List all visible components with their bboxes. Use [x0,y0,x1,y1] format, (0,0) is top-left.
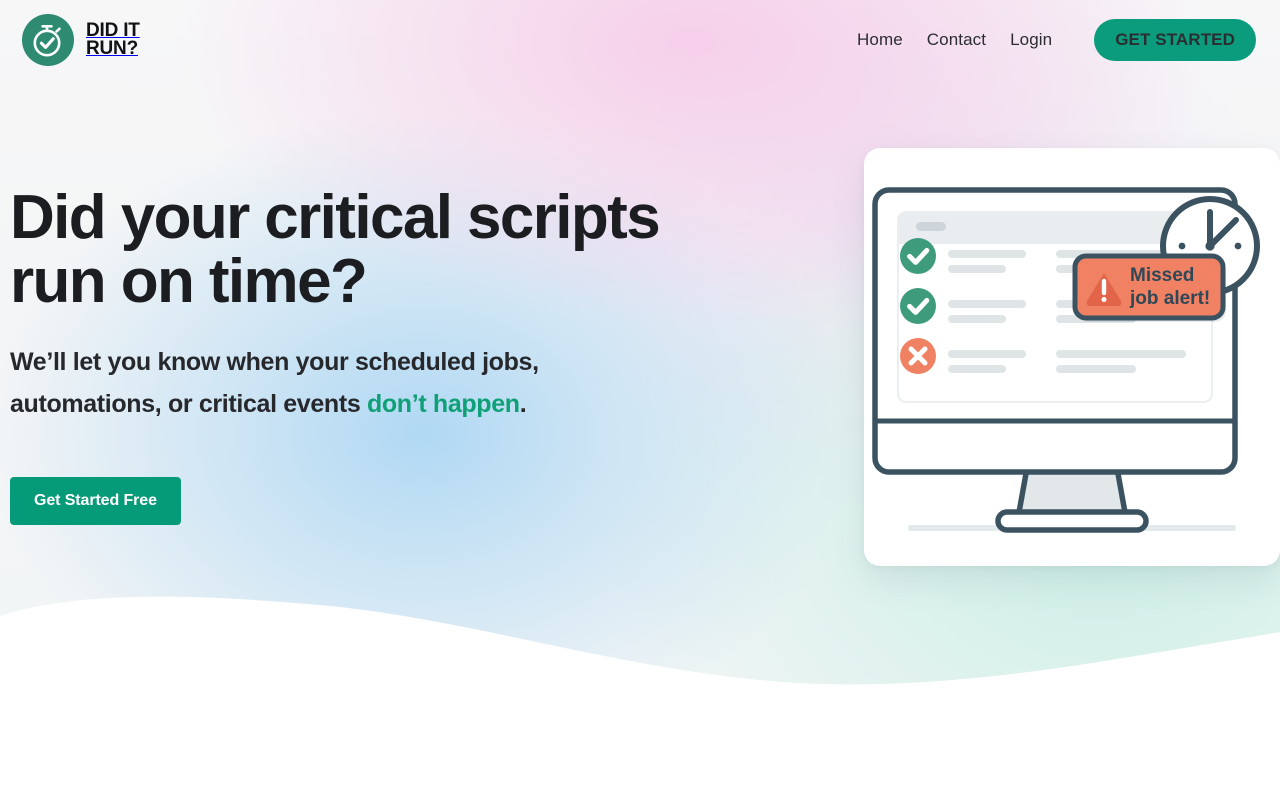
row-bar-primary-2 [1056,350,1186,358]
row-bar-secondary [948,265,1006,273]
site-header: DID IT RUN? Home Contact Login GET START… [0,0,1280,80]
missed-job-alert-illustration: Missed job alert! [864,148,1280,566]
hero-subtitle: We’ll let you know when your scheduled j… [10,341,670,425]
nav-link-contact[interactable]: Contact [927,30,986,50]
background-wave-shape [0,560,1280,800]
main-navigation: Home Contact Login GET STARTED [857,19,1256,61]
check-circle-icon [900,288,936,324]
hero-title-line2: run on time? [10,247,366,316]
hero-title-line1: Did your critical scripts [10,183,659,252]
monitor-stand-base [998,512,1146,530]
get-started-free-button[interactable]: Get Started Free [10,477,181,525]
nav-link-home[interactable]: Home [857,30,903,50]
hero-section: Did your critical scripts run on time? W… [10,186,810,525]
row-bar-secondary [948,315,1006,323]
check-circle-icon [900,238,936,274]
brand-name-line2: RUN? [86,40,140,58]
page-title: Did your critical scripts run on time? [10,186,810,315]
stopwatch-check-icon [22,14,74,66]
get-started-button[interactable]: GET STARTED [1094,19,1256,61]
row-bar-primary [948,250,1026,258]
row-bar-secondary [948,365,1006,373]
hero-subtitle-suffix: . [520,390,527,418]
brand-wordmark: DID IT RUN? [86,22,140,59]
hero-illustration-card: Missed job alert! [864,148,1280,566]
alert-badge-line1: Missed [1130,265,1194,286]
row-bar-primary [948,350,1026,358]
nav-link-login[interactable]: Login [1010,30,1052,50]
status-badge: Missed job alert! [1075,256,1226,322]
brand-logo[interactable]: DID IT RUN? [22,14,140,66]
hero-subtitle-accent: don’t happen [367,390,520,418]
row-bar-primary [948,300,1026,308]
app-window-titlebar-pill [916,222,946,231]
alert-badge-line2: job alert! [1129,288,1210,309]
row-bar-secondary-2 [1056,365,1136,373]
